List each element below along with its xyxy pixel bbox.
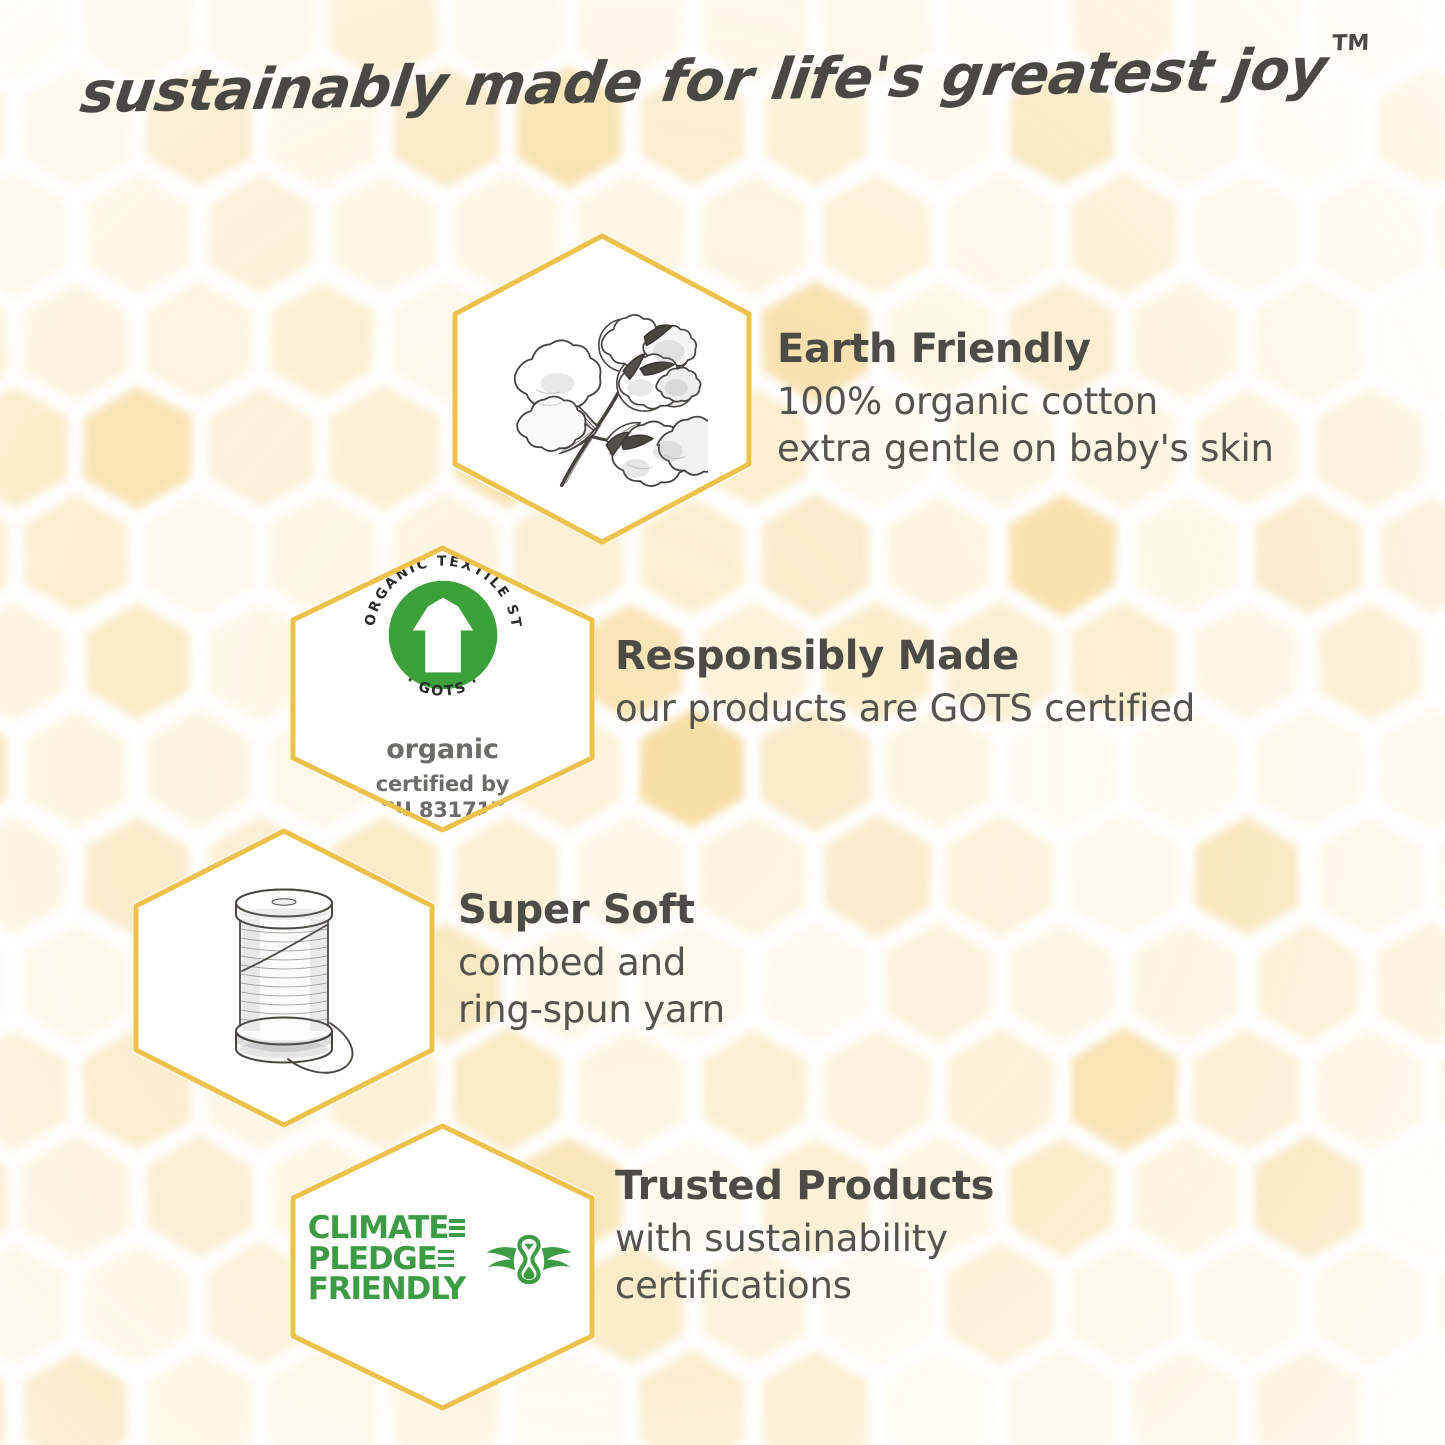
cpf-text: FRIENDLY	[308, 1274, 465, 1304]
honeycomb-cell	[86, 173, 190, 295]
hexagon-tile-cotton	[452, 233, 752, 545]
honeycomb-cell	[24, 494, 128, 613]
feature-line: with sustainability	[615, 1215, 994, 1262]
honeycomb-cell	[0, 1135, 8, 1260]
honeycomb-cell	[1258, 923, 1359, 1044]
honeycomb-cell	[1318, 817, 1422, 935]
honeycomb-cell	[0, 707, 7, 831]
hexagon-tile-gots: GLOBAL ORGANIC TEXTILE STANDARD · GOTS ·…	[290, 545, 595, 833]
honeycomb-cell	[1438, 170, 1445, 298]
honeycomb-cell	[0, 1351, 6, 1445]
cotton-branch-icon	[496, 286, 708, 498]
cpf-bars-icon	[449, 1219, 465, 1237]
feature-line: certifications	[615, 1262, 994, 1309]
feature-trusted-products: CLIMATE PLEDGE FRIENDLY	[290, 1123, 1290, 1411]
honeycomb-cell	[0, 602, 65, 721]
climate-pledge-line-3: FRIENDLY	[308, 1274, 465, 1304]
honeycomb-cell	[1380, 280, 1445, 401]
thread-spool-icon	[184, 873, 384, 1083]
feature-title: Trusted Products	[615, 1164, 994, 1209]
gots-certified-by: certified by	[376, 772, 510, 796]
honeycomb-cell	[145, 492, 254, 616]
honeycomb-cell	[0, 171, 68, 298]
feature-earth-friendly: Earth Friendly 100% organic cotton extra…	[452, 233, 1312, 545]
honeycomb-cell	[0, 491, 7, 619]
honeycomb-cell	[25, 711, 128, 829]
honeycomb-cell	[1317, 1028, 1423, 1151]
feature-responsibly-made: GLOBAL ORGANIC TEXTILE STANDARD · GOTS ·…	[290, 545, 1290, 833]
honeycomb-cell	[84, 386, 193, 509]
honeycomb-cell	[1380, 707, 1445, 831]
climate-pledge-line-1: CLIMATE	[308, 1213, 465, 1243]
honeycomb-cell	[1378, 1136, 1445, 1259]
honeycomb-cell	[23, 282, 128, 401]
honeycomb-cell	[329, 384, 440, 513]
honeycomb-cell	[24, 1353, 127, 1445]
hexagon-tile-climate-pledge: CLIMATE PLEDGE FRIENDLY	[290, 1123, 595, 1411]
feature-text-super-soft: Super Soft combed and ring-spun yarn	[458, 888, 725, 1034]
feature-text-responsibly-made: Responsibly Made our products are GOTS c…	[615, 634, 1195, 732]
honeycomb-cell	[147, 709, 250, 830]
feature-text-trusted-products: Trusted Products with sustainability cer…	[615, 1164, 994, 1310]
headline-container: sustainably made for life's greatest joy…	[0, 48, 1445, 114]
honeycomb-cell	[86, 602, 189, 720]
winged-hourglass-icon	[481, 1225, 577, 1294]
gots-logo-icon: GLOBAL ORGANIC TEXTILE STANDARD · GOTS ·	[354, 546, 532, 724]
gots-badge: GLOBAL ORGANIC TEXTILE STANDARD · GOTS ·…	[354, 546, 532, 823]
page-title: sustainably made for life's greatest joy…	[77, 36, 1368, 127]
honeycomb-cell	[1377, 921, 1445, 1045]
honeycomb-cell	[1379, 1349, 1445, 1445]
cpf-text: PLEDGE	[308, 1244, 437, 1274]
hexagon-tile-spool	[133, 828, 435, 1128]
honeycomb-cell	[1441, 1243, 1445, 1365]
honeycomb-cell	[1316, 174, 1425, 296]
honeycomb-cell	[145, 281, 252, 401]
gots-organic-label: organic	[386, 734, 499, 765]
honeycomb-cell	[1317, 387, 1426, 511]
cpf-bars-icon	[438, 1250, 454, 1268]
honeycomb-cell	[1381, 497, 1445, 615]
headline-text: sustainably made for life's greatest joy	[77, 36, 1331, 126]
honeycomb-cell	[0, 1245, 67, 1365]
honeycomb-cell	[1316, 1244, 1423, 1365]
feature-line: 100% organic cotton	[777, 378, 1274, 425]
feature-title: Responsibly Made	[615, 634, 1195, 679]
feature-title: Super Soft	[458, 888, 725, 933]
honeycomb-cell	[0, 278, 7, 403]
honeycomb-cell	[0, 816, 65, 934]
trademark-symbol: TM	[1332, 31, 1370, 57]
feature-super-soft: Super Soft combed and ring-spun yarn	[133, 828, 1033, 1128]
honeycomb-cell	[0, 387, 68, 509]
gots-certificate-code: CU 831717	[380, 798, 506, 822]
honeycomb-cell	[148, 1352, 252, 1445]
climate-pledge-friendly-badge: CLIMATE PLEDGE FRIENDLY	[308, 1213, 577, 1304]
honeycomb-cell	[1195, 816, 1300, 935]
honeycomb-cell	[270, 282, 374, 400]
honeycomb-cell	[146, 1135, 253, 1258]
honeycomb-cell	[208, 388, 315, 508]
honeycomb-cell	[0, 922, 6, 1045]
honeycomb-cell	[1439, 814, 1445, 939]
honeycomb-cell	[208, 173, 313, 295]
feature-title: Earth Friendly	[777, 327, 1274, 372]
feature-line: ring-spun yarn	[458, 986, 725, 1033]
honeycomb-cell	[0, 1030, 68, 1151]
climate-pledge-line-2: PLEDGE	[308, 1244, 454, 1274]
cpf-text: CLIMATE	[308, 1213, 448, 1243]
gots-certified-label: certified by CU 831717	[376, 772, 510, 823]
honeycomb-cell	[84, 1244, 190, 1364]
climate-pledge-wordmark: CLIMATE PLEDGE FRIENDLY	[308, 1213, 465, 1304]
feature-line: combed and	[458, 939, 725, 986]
feature-line: extra gentle on baby's skin	[777, 425, 1274, 472]
honeycomb-cell	[1441, 386, 1445, 508]
honeycomb-cell	[1318, 602, 1423, 721]
honeycomb-cell	[21, 1134, 130, 1260]
feature-text-earth-friendly: Earth Friendly 100% organic cotton extra…	[777, 327, 1274, 473]
honeycomb-cell	[331, 175, 436, 293]
honeycomb-cell	[24, 924, 128, 1043]
feature-line: our products are GOTS certified	[615, 685, 1195, 732]
honeycomb-cell	[1132, 924, 1238, 1043]
